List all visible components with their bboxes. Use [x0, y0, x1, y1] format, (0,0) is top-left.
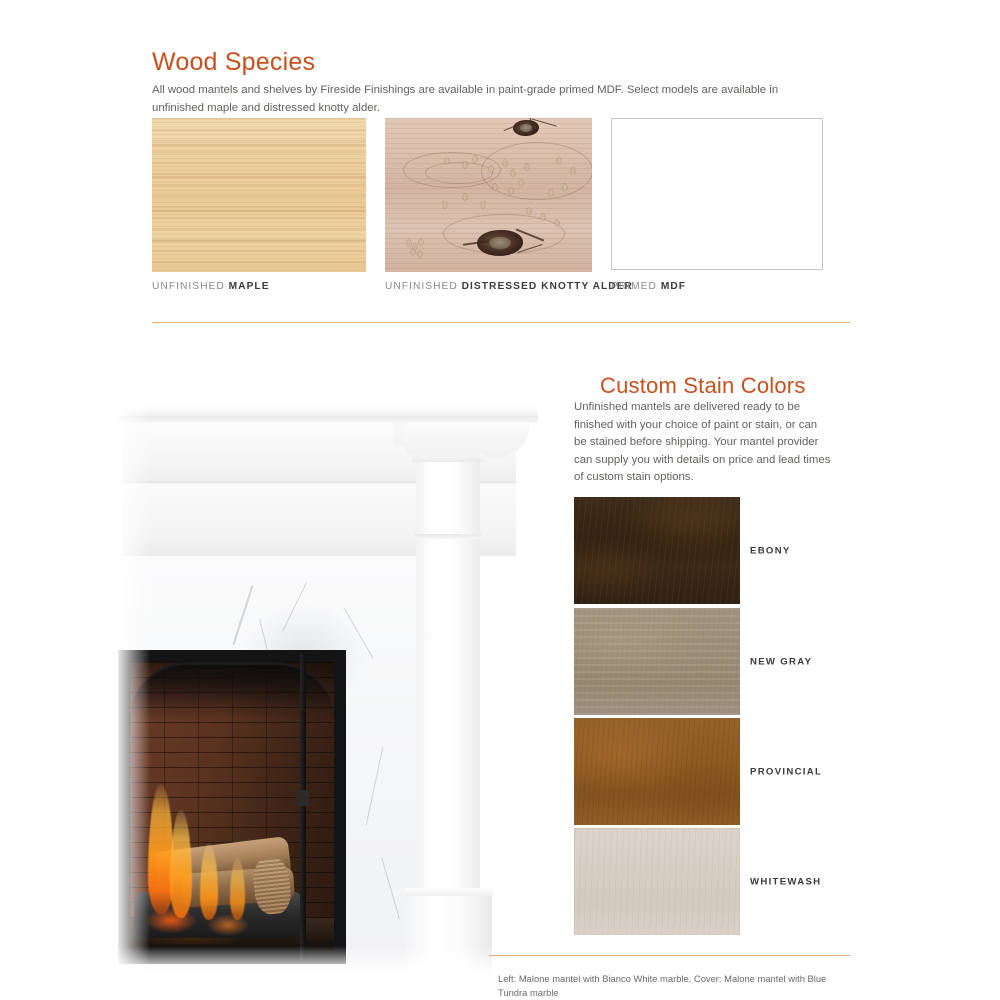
marble-vein [344, 608, 374, 659]
marble-vein [366, 747, 384, 826]
swatch-caption-knotty-alder: UNFINISHED DISTRESSED KNOTTY ALDER [385, 281, 633, 292]
caption-prefix: UNFINISHED [385, 281, 462, 292]
wood-grain-line [152, 176, 366, 178]
stain-row-new-gray[interactable]: NEW GRAY [574, 608, 740, 715]
custom-stain-colors-description: Unfinished mantels are delivered ready t… [574, 399, 832, 487]
wood-swirl [481, 142, 592, 200]
firebox-door-handle [297, 790, 309, 806]
stain-swatch-whitewash[interactable] [574, 828, 740, 935]
stain-swatch-ebony[interactable] [574, 497, 740, 604]
mantel-pilaster [416, 454, 480, 922]
stain-label-provincial: PROVINCIAL [750, 766, 822, 777]
photo-caption: Left: Malone mantel with Bianco White ma… [498, 972, 828, 1000]
mantel-pilaster-band [414, 534, 482, 539]
stain-row-ebony[interactable]: EBONY [574, 497, 740, 604]
wood-knot [513, 120, 539, 136]
stain-row-provincial[interactable]: PROVINCIAL [574, 718, 740, 825]
stain-label-whitewash: WHITEWASH [750, 876, 821, 887]
section-divider-top [152, 322, 850, 323]
swatch-primed-mdf[interactable] [611, 118, 823, 270]
photo-edge-fade-left [104, 392, 150, 972]
stain-swatch-provincial[interactable] [574, 718, 740, 825]
custom-stain-colors-heading: Custom Stain Colors [600, 373, 806, 399]
caption-prefix: UNFINISHED [152, 281, 229, 292]
wood-grain-line [152, 210, 366, 212]
caption-divider [489, 955, 850, 956]
mantel-pilaster-cap [412, 454, 484, 462]
stain-swatch-new-gray[interactable] [574, 608, 740, 715]
mantel-shelf-edge [118, 416, 538, 423]
caption-name: DISTRESSED KNOTTY ALDER [462, 281, 633, 292]
photo-edge-fade-bottom [104, 946, 556, 972]
stain-label-new-gray: NEW GRAY [750, 656, 812, 667]
marble-vein [232, 585, 253, 644]
fireplace-photo [104, 392, 556, 972]
wood-species-heading: Wood Species [152, 48, 315, 77]
caption-prefix: PRIMED [611, 281, 661, 292]
mantel-pilaster-base-cap [404, 888, 494, 896]
marble-vein [282, 582, 307, 631]
marble-vein [381, 857, 400, 919]
wood-species-description: All wood mantels and shelves by Fireside… [152, 82, 792, 117]
photo-edge-fade-top [104, 392, 556, 406]
firebox-door-mullion [300, 654, 306, 960]
wood-grain-line [152, 144, 366, 146]
swatch-caption-mdf: PRIMED MDF [611, 281, 686, 292]
swatch-caption-maple: UNFINISHED MAPLE [152, 281, 270, 292]
swatch-unfinished-distressed-knotty-alder[interactable] [385, 118, 592, 272]
swatch-unfinished-maple[interactable] [152, 118, 366, 272]
caption-name: MAPLE [229, 281, 270, 292]
stain-label-ebony: EBONY [750, 545, 791, 556]
wood-grain-line [152, 240, 366, 242]
catalog-page: Wood Species All wood mantels and shelve… [0, 0, 1000, 1000]
stain-row-whitewash[interactable]: WHITEWASH [574, 828, 740, 935]
caption-name: MDF [661, 281, 686, 292]
